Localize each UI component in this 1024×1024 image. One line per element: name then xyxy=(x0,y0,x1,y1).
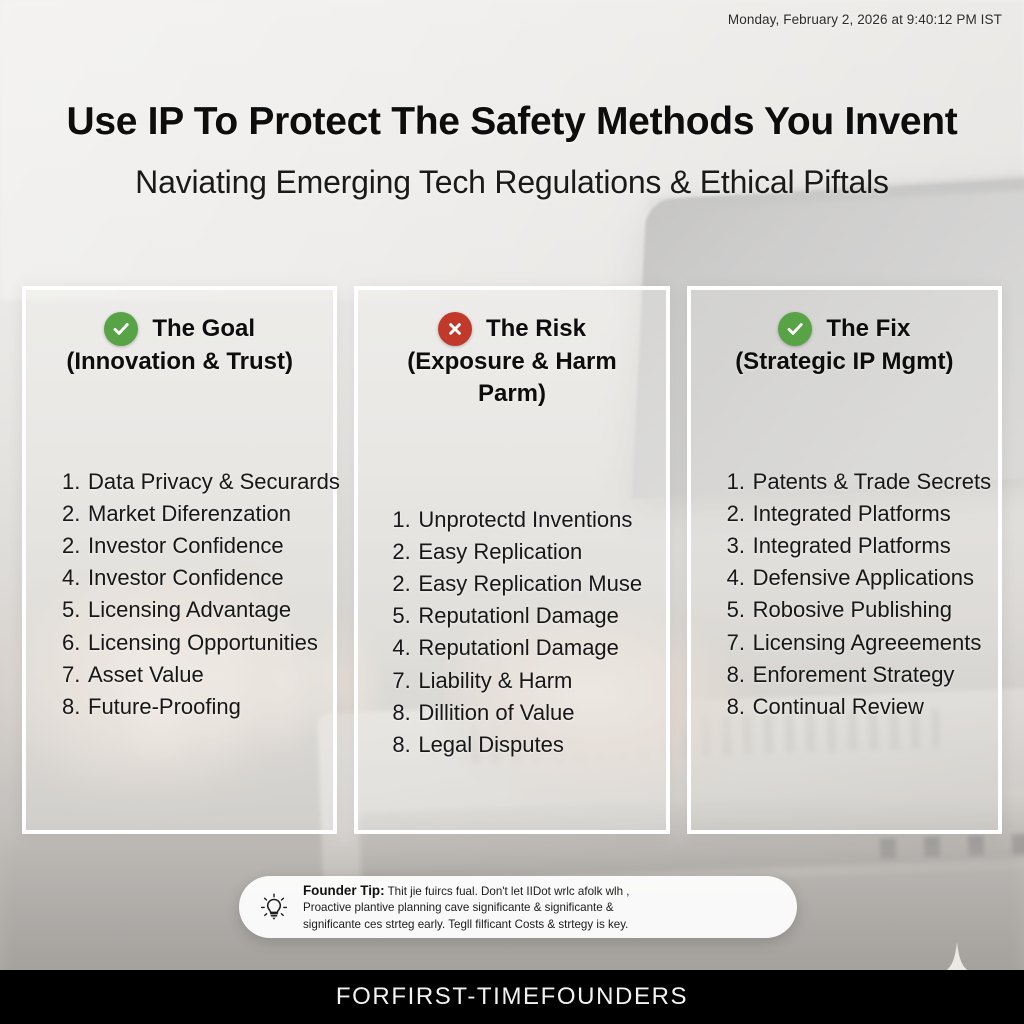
list-item: 5.Robosive Publishing xyxy=(727,594,998,626)
card-title-line3: Parm) xyxy=(370,378,653,410)
list-item-label: Defensive Applications xyxy=(753,565,974,590)
list-item-label: Data Privacy & Securards xyxy=(88,469,340,494)
list-item-label: Investor Confidence xyxy=(88,565,284,590)
list-item: 4.Reputationl Damage xyxy=(392,632,665,664)
footer-brand-label: FORFIRST-TIMEFOUNDERS xyxy=(336,983,688,1011)
list-item-label: Legal Disputes xyxy=(418,732,564,757)
list-item-label: Reputationl Damage xyxy=(418,635,619,660)
list-item-number: 3. xyxy=(727,530,753,562)
list-item-label: Licensing Advantage xyxy=(88,597,291,622)
list-item-number: 8. xyxy=(727,659,753,691)
list-item-label: Continual Review xyxy=(753,694,924,719)
x-circle-icon xyxy=(438,312,472,346)
founder-tip-box: Founder Tip: Thit jie fuircs fual. Don't… xyxy=(239,876,797,938)
list-item-number: 2. xyxy=(62,498,88,530)
card-title-line2: (Innovation & Trust) xyxy=(38,346,321,378)
card-header: The Fix (Strategic IP Mgmt) xyxy=(691,312,998,378)
list-item: 5.Reputationl Damage xyxy=(392,600,665,632)
list-item-number: 7. xyxy=(727,627,753,659)
card-title-line2: (Strategic IP Mgmt) xyxy=(703,346,986,378)
card-the-fix: The Fix (Strategic IP Mgmt) 1.Patents & … xyxy=(687,286,1002,834)
list-item: 1.Unprotectd Inventions xyxy=(392,504,665,536)
list-item-label: Asset Value xyxy=(88,662,204,687)
list-item-label: Robosive Publishing xyxy=(753,597,952,622)
list-item-number: 6. xyxy=(62,627,88,659)
list-item-number: 8. xyxy=(392,729,418,761)
card-item-list: 1.Patents & Trade Secrets 2.Integrated P… xyxy=(691,466,998,723)
card-item-list: 1.Data Privacy & Securards 2.Market Dife… xyxy=(26,466,333,723)
list-item-number: 7. xyxy=(62,659,88,691)
card-the-risk: The Risk (Exposure & Harm Parm) 1.Unprot… xyxy=(354,286,669,834)
card-row: The Goal (Innovation & Trust) 1.Data Pri… xyxy=(22,286,1002,834)
list-item: 5.Licensing Advantage xyxy=(62,594,333,626)
check-circle-icon xyxy=(778,312,812,346)
list-item: 4.Defensive Applications xyxy=(727,562,998,594)
list-item-number: 2. xyxy=(62,530,88,562)
timestamp-label: Monday, February 2, 2026 at 9:40:12 PM I… xyxy=(728,12,1002,27)
list-item-number: 8. xyxy=(392,697,418,729)
list-item-label: Investor Confidence xyxy=(88,533,284,558)
list-item: 8.Legal Disputes xyxy=(392,729,665,761)
card-header: The Goal (Innovation & Trust) xyxy=(26,312,333,378)
list-item-label: Dillition of Value xyxy=(418,700,574,725)
page-title: Use IP To Protect The Safety Methods You… xyxy=(0,100,1024,144)
list-item: 8.Continual Review xyxy=(727,691,998,723)
card-the-goal: The Goal (Innovation & Trust) 1.Data Pri… xyxy=(22,286,337,834)
list-item: 2.Market Diferenzation xyxy=(62,498,333,530)
list-item: 7.Liability & Harm xyxy=(392,665,665,697)
list-item: 6.Licensing Opportunities xyxy=(62,627,333,659)
list-item: 4.Investor Confidence xyxy=(62,562,333,594)
list-item: 2.Easy Replication xyxy=(392,536,665,568)
list-item-label: Enforement Strategy xyxy=(753,662,955,687)
list-item-number: 1. xyxy=(62,466,88,498)
founder-tip-text: Founder Tip: Thit jie fuircs fual. Don't… xyxy=(303,881,630,933)
list-item-label: Patents & Trade Secrets xyxy=(753,469,991,494)
list-item-number: 1. xyxy=(392,504,418,536)
card-header: The Risk (Exposure & Harm Parm) xyxy=(358,312,665,410)
list-item: 1.Patents & Trade Secrets xyxy=(727,466,998,498)
card-title-line1: The Risk xyxy=(486,313,586,345)
list-item-label: Licensing Agreeements xyxy=(753,630,982,655)
list-item-label: Easy Replication xyxy=(418,539,582,564)
list-item: 8.Enforement Strategy xyxy=(727,659,998,691)
list-item-number: 4. xyxy=(727,562,753,594)
list-item-number: 2. xyxy=(392,536,418,568)
card-item-list: 1.Unprotectd Inventions 2.Easy Replicati… xyxy=(358,504,665,761)
list-item-number: 2. xyxy=(727,498,753,530)
list-item: 1.Data Privacy & Securards xyxy=(62,466,333,498)
card-title-line1: The Fix xyxy=(826,313,910,345)
card-title-line1: The Goal xyxy=(152,313,255,345)
infographic-canvas: Monday, February 2, 2026 at 9:40:12 PM I… xyxy=(0,0,1024,1024)
list-item-number: 8. xyxy=(62,691,88,723)
list-item-label: Easy Replication Muse xyxy=(418,571,642,596)
list-item-number: 5. xyxy=(392,600,418,632)
list-item: 8.Future-Proofing xyxy=(62,691,333,723)
list-item: 7.Asset Value xyxy=(62,659,333,691)
list-item-number: 4. xyxy=(62,562,88,594)
list-item-number: 2. xyxy=(392,568,418,600)
list-item-number: 5. xyxy=(62,594,88,626)
founder-tip-line3: significante ces strteg early. Tegll fil… xyxy=(303,918,628,931)
list-item-label: Integrated Platforms xyxy=(753,501,951,526)
founder-tip-label: Founder Tip: xyxy=(303,883,385,898)
list-item: 2.Integrated Platforms xyxy=(727,498,998,530)
list-item-label: Future-Proofing xyxy=(88,694,241,719)
list-item: 8.Dillition of Value xyxy=(392,697,665,729)
list-item: 2.Investor Confidence xyxy=(62,530,333,562)
card-title-line2: (Exposure & Harm xyxy=(370,346,653,378)
founder-tip-line1: Thit jie fuircs fual. Don't let IIDot wr… xyxy=(385,885,630,898)
list-item: 7.Licensing Agreeements xyxy=(727,627,998,659)
page-subtitle: Naviating Emerging Tech Regulations & Et… xyxy=(0,164,1024,201)
list-item-number: 1. xyxy=(727,466,753,498)
list-item-label: Liability & Harm xyxy=(418,668,572,693)
list-item-label: Reputationl Damage xyxy=(418,603,619,628)
list-item-label: Licensing Opportunities xyxy=(88,630,318,655)
list-item-number: 7. xyxy=(392,665,418,697)
check-circle-icon xyxy=(104,312,138,346)
list-item-number: 4. xyxy=(392,632,418,664)
footer-bar: FORFIRST-TIMEFOUNDERS xyxy=(0,970,1024,1024)
list-item-number: 8. xyxy=(727,691,753,723)
list-item: 3.Integrated Platforms xyxy=(727,530,998,562)
list-item-number: 5. xyxy=(727,594,753,626)
list-item: 2.Easy Replication Muse xyxy=(392,568,665,600)
list-item-label: Unprotectd Inventions xyxy=(418,507,632,532)
lightbulb-icon xyxy=(257,890,291,924)
list-item-label: Integrated Platforms xyxy=(753,533,951,558)
founder-tip-line2: Proactive plantive planning cave signifi… xyxy=(303,901,614,914)
list-item-label: Market Diferenzation xyxy=(88,501,291,526)
